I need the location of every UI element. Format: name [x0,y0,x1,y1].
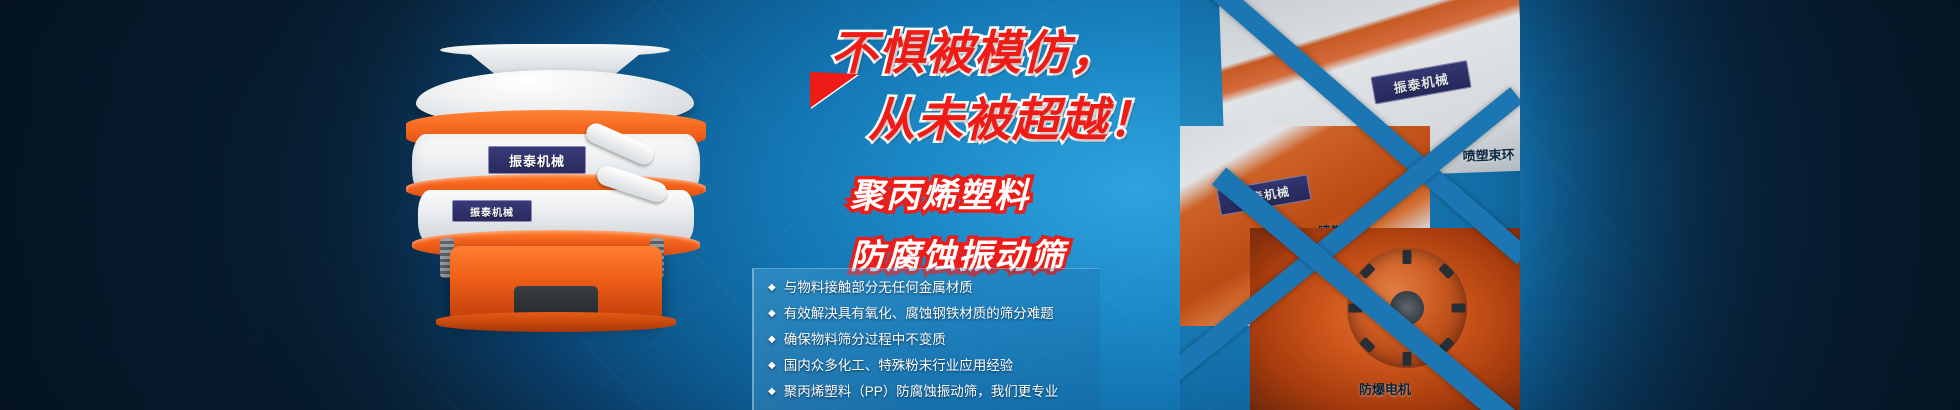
feature-bullet-panel: ◆ 与物料接触部分无任何金属材质 ◆ 有效解决具有氧化、腐蚀钢铁材质的筛分难题 … [752,268,1100,410]
headline-line-1: 不惧被模仿， [830,14,1240,83]
machine-base-plate [436,312,676,332]
bullet-text: 确保物料筛分过程中不变质 [784,327,946,353]
brand-plate-lower: 振泰机械 [452,200,532,222]
brand-plate-upper: 振泰机械 [488,146,586,174]
diamond-bullet-icon: ◆ [768,361,776,371]
bullet-text: 有效解决具有氧化、腐蚀钢铁材质的筛分难题 [784,301,1054,327]
red-triangle-flag-icon [810,72,858,108]
bullet-text: 与物料接触部分无任何金属材质 [784,275,973,301]
diamond-bullet-icon: ◆ [768,309,776,319]
bullet-item: ◆ 聚丙烯塑料（PP）防腐蚀振动筛，我们更专业 [768,379,1090,405]
headline-block: 不惧被模仿， 从未被超越！ 聚丙烯塑料 防腐蚀振动筛 [810,14,1240,278]
bullet-item: ◆ 国内众多化工、特殊粉末行业应用经验 [768,353,1090,379]
bullet-item: ◆ 有效解决具有氧化、腐蚀钢铁材质的筛分难题 [768,301,1090,327]
diamond-bullet-icon: ◆ [768,283,776,293]
diamond-bullet-icon: ◆ [768,387,776,397]
bullet-item: ◆ 确保物料筛分过程中不变质 [768,327,1090,353]
diamond-bullet-icon: ◆ [768,335,776,345]
bullet-text: 聚丙烯塑料（PP）防腐蚀振动筛，我们更专业 [784,379,1059,405]
promo-banner: 振泰机械 振泰机械 不惧被模仿， 从未被超越！ 聚丙烯塑料 防腐蚀振动筛 ◆ 与… [0,0,1960,410]
bullet-item: ◆ 与物料接触部分无任何金属材质 [768,275,1090,301]
bullet-text: 国内众多化工、特殊粉末行业应用经验 [784,353,1014,379]
product-detail-collage: 振泰机械 喷塑束环 振泰机械 喷塑底框 防爆电机 [1180,0,1520,410]
collage-overlay-tint [1180,0,1520,410]
main-product-image: 振泰机械 振泰机械 [388,48,728,348]
